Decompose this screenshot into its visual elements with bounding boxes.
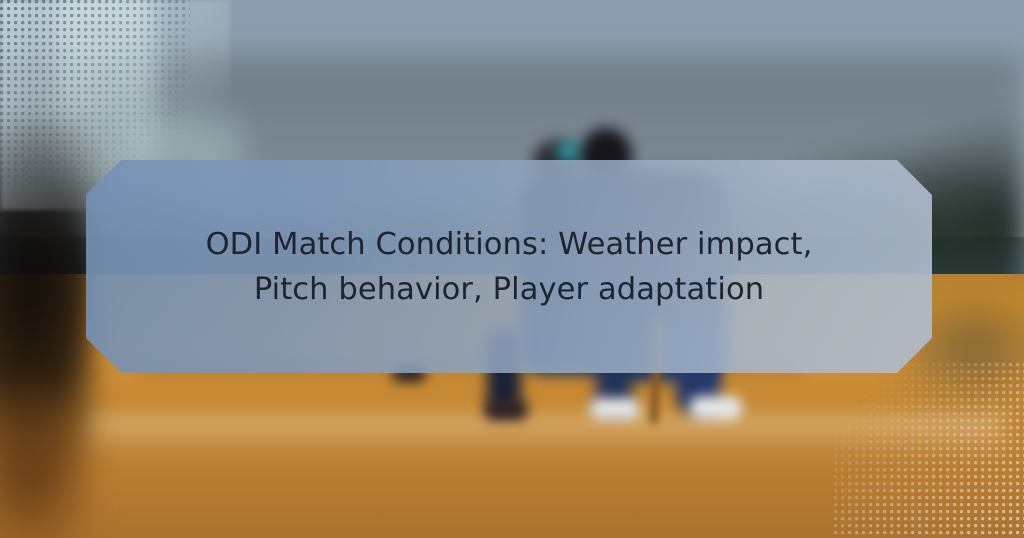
player-shoe-near: [690, 396, 742, 420]
title-banner: ODI Match Conditions: Weather impact, Pi…: [86, 160, 932, 373]
player-shoe-dark: [484, 400, 528, 420]
blurred-post: [56, 0, 156, 180]
foreground-blur-lower: [0, 380, 90, 538]
bottom-right-dot-pattern-icon: [834, 363, 1024, 538]
hero-banner-page: ODI Match Conditions: Weather impact, Pi…: [0, 0, 1024, 538]
player-cap: [556, 143, 586, 160]
player-shoe-mid: [590, 398, 640, 420]
foreground-blur-figure: [0, 120, 95, 538]
pitch-crease-strip: [82, 414, 1004, 457]
page-title: ODI Match Conditions: Weather impact, Pi…: [169, 222, 849, 312]
